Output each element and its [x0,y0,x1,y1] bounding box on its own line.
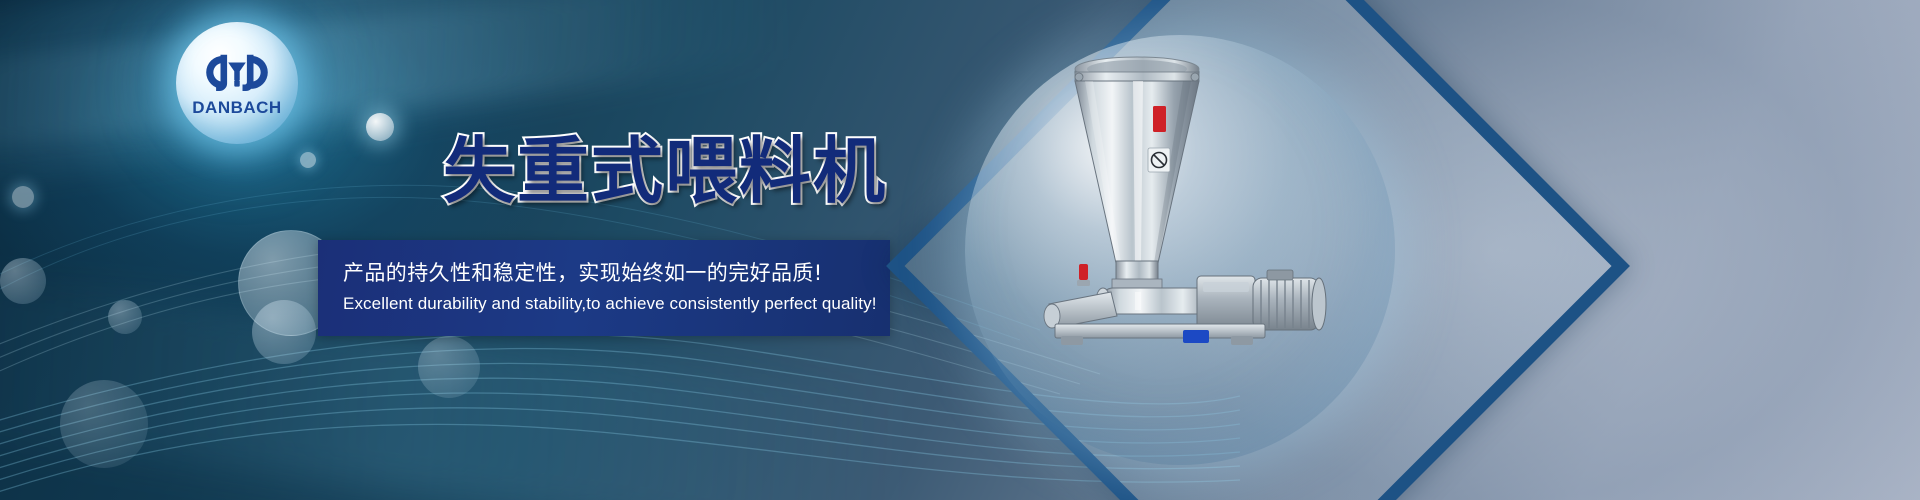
bubble-icon [12,186,34,208]
page-title: 失重式喂料机 [443,112,887,217]
tagline-english: Excellent durability and stability,to ac… [343,291,890,317]
product-banner: DANBACH 失重式喂料机 产品的持久性和稳定性，实现始终如一的完好品质! E… [0,0,1920,500]
tagline-chinese: 产品的持久性和稳定性，实现始终如一的完好品质! [343,259,890,287]
tagline-box: 产品的持久性和稳定性，实现始终如一的完好品质! Excellent durabi… [318,240,890,336]
bubble-icon [60,380,148,468]
bubble-icon [366,113,394,141]
product-image-loss-in-weight-feeder [1015,48,1345,348]
bubble-icon [252,300,316,364]
bubble-icon [418,336,480,398]
brand-name: DANBACH [192,99,281,116]
brand-logo[interactable]: DANBACH [176,22,298,144]
bubble-icon [0,258,46,304]
bubble-icon [300,152,316,168]
bubble-icon [108,300,142,334]
danbach-logo-mark-icon [204,50,270,98]
